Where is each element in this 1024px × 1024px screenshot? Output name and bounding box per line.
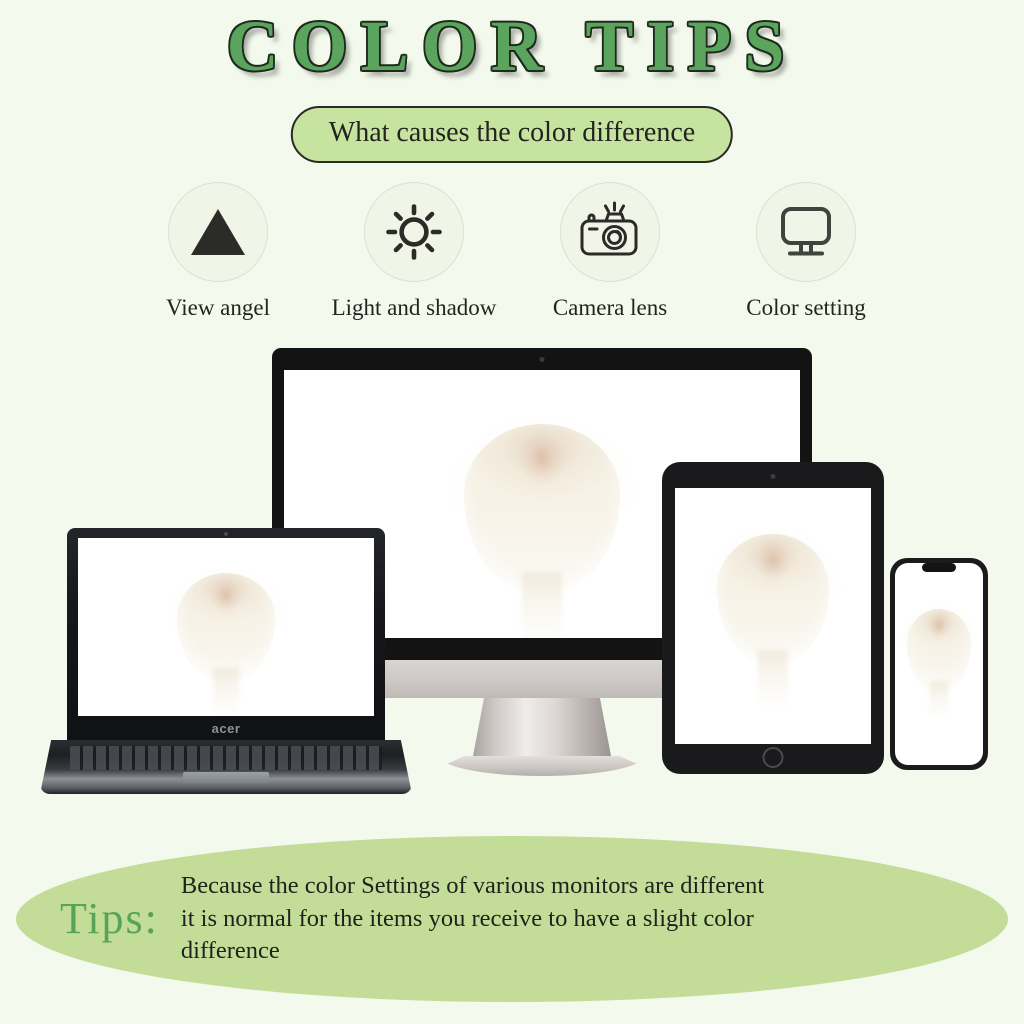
product-image-hair-topper bbox=[166, 546, 286, 708]
tips-line-1: Because the color Settings of various mo… bbox=[181, 870, 764, 903]
laptop: acer bbox=[40, 528, 412, 794]
tips-section: Tips: Because the color Settings of vari… bbox=[16, 836, 1008, 1002]
home-button[interactable] bbox=[763, 747, 784, 768]
laptop-keyboard bbox=[70, 746, 382, 770]
laptop-lid: acer bbox=[67, 528, 385, 742]
webcam-dot bbox=[224, 532, 228, 536]
product-image-hair-topper bbox=[900, 589, 978, 713]
feature-label: View angel bbox=[166, 294, 270, 322]
feature-label: Camera lens bbox=[553, 294, 667, 322]
device-showcase: acer bbox=[0, 340, 1024, 810]
feature-item-camera-lens: Camera lens bbox=[512, 182, 708, 322]
tablet-screen bbox=[675, 488, 871, 744]
phone-body bbox=[890, 558, 988, 770]
feature-list: View angel L bbox=[0, 182, 1024, 322]
triangle-icon bbox=[189, 205, 247, 259]
sun-icon bbox=[383, 201, 445, 263]
dynamic-island bbox=[922, 563, 956, 572]
feature-item-view-angel: View angel bbox=[120, 182, 316, 322]
webcam-dot bbox=[771, 474, 776, 479]
title-container: COLOR TIPS bbox=[0, 8, 1024, 86]
monitor-stand-neck bbox=[473, 698, 611, 756]
tips-line-3: difference bbox=[181, 935, 764, 968]
subtitle-pill: What causes the color difference bbox=[291, 106, 733, 163]
tips-label: Tips: bbox=[60, 897, 159, 941]
feature-label: Color setting bbox=[746, 294, 865, 322]
tablet bbox=[662, 462, 884, 774]
laptop-trackpad bbox=[183, 772, 269, 783]
monitor-icon bbox=[775, 203, 837, 261]
laptop-base bbox=[40, 740, 412, 794]
phone-screen bbox=[895, 563, 983, 765]
monitor-stand-base bbox=[440, 756, 644, 776]
icon-badge bbox=[560, 182, 660, 282]
laptop-screen bbox=[78, 538, 374, 716]
laptop-brand-logo: acer bbox=[212, 721, 241, 736]
camera-icon bbox=[575, 200, 645, 264]
webcam-dot bbox=[540, 357, 545, 362]
page-title: COLOR TIPS bbox=[227, 8, 798, 86]
icon-badge bbox=[756, 182, 856, 282]
tips-line-2: it is normal for the items you receive t… bbox=[181, 903, 764, 936]
icon-badge bbox=[168, 182, 268, 282]
product-image-hair-topper bbox=[705, 502, 841, 698]
smartphone bbox=[890, 558, 988, 770]
feature-item-color-setting: Color setting bbox=[708, 182, 904, 322]
tablet-body bbox=[662, 462, 884, 774]
icon-badge bbox=[364, 182, 464, 282]
tips-text: Because the color Settings of various mo… bbox=[181, 870, 764, 968]
product-image-hair-topper bbox=[447, 382, 637, 632]
feature-label: Light and shadow bbox=[332, 294, 497, 322]
feature-item-light-and-shadow: Light and shadow bbox=[316, 182, 512, 322]
infographic-page: COLOR TIPS What causes the color differe… bbox=[0, 0, 1024, 1024]
